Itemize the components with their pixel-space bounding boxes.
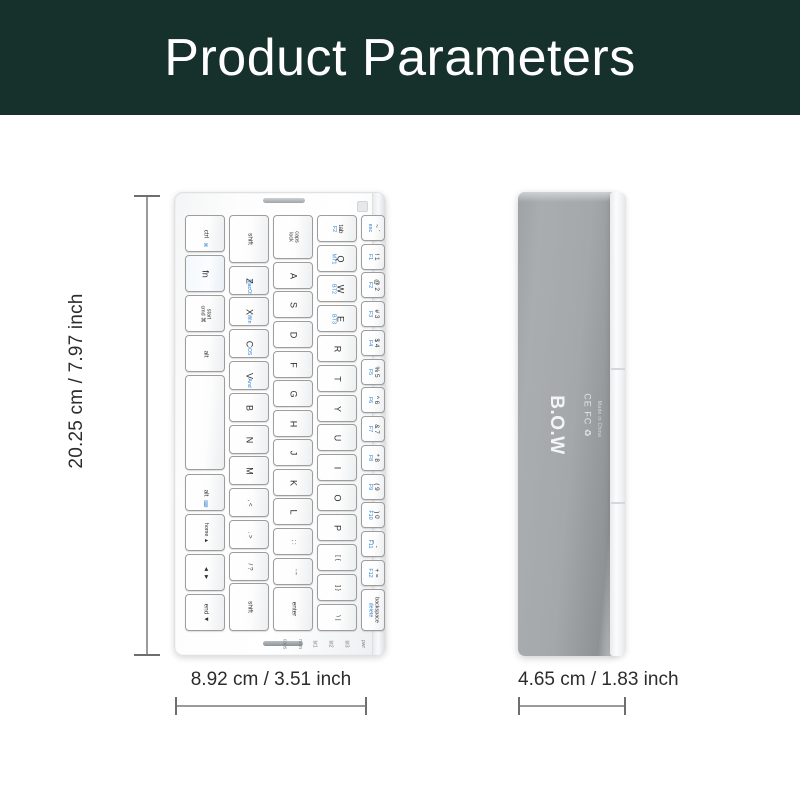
case-top-highlight xyxy=(518,192,614,202)
key-label: % 5F5 xyxy=(367,366,379,377)
key-label: T xyxy=(332,376,341,382)
key-label: S xyxy=(288,301,297,307)
key-fn-label: F2 xyxy=(331,224,337,233)
key-key[interactable]: ; : xyxy=(273,528,313,555)
indicator-bt3: bt3 xyxy=(343,641,349,648)
case-body: B.O.W CE FC ♻ Made in China xyxy=(518,192,614,656)
key-u[interactable]: U xyxy=(317,424,357,451)
keyboard-width-cap-right xyxy=(365,697,367,715)
key-label: end ▼ xyxy=(202,603,209,622)
key-fn-label: F3 xyxy=(367,310,373,319)
key-caps-lock[interactable]: capslock xyxy=(273,215,313,259)
keyboard-row-number-row: ~ `esc! 1F1@ 2F2# 3F3$ 4F4% 5F5^ 6F6& 7F… xyxy=(361,193,385,656)
key-label: ' " xyxy=(290,569,297,574)
page-title: Product Parameters xyxy=(164,28,635,88)
header-banner: Product Parameters xyxy=(0,0,800,115)
case-seam-lower xyxy=(611,502,625,504)
key-fn-label: BT3 xyxy=(329,314,335,324)
indicator-pwr: pwr xyxy=(360,640,366,648)
key-o[interactable]: O xyxy=(317,484,357,511)
key-1[interactable]: ! 1F1 xyxy=(361,244,385,270)
key-label: U xyxy=(332,434,341,441)
key-label: ctrl xyxy=(202,229,209,238)
key-key[interactable]: _ -F11 xyxy=(361,531,385,557)
key-4[interactable]: $ 4F4 xyxy=(361,330,385,356)
key-7[interactable]: & 7F7 xyxy=(361,416,385,442)
key-6[interactable]: ^ 6F6 xyxy=(361,387,385,413)
key-secondary-label: Win xyxy=(246,314,252,323)
key-label: , < xyxy=(246,499,253,506)
key-label: M xyxy=(244,467,253,475)
product-diagram-stage: 20.25 cm / 7.97 inch ctrl⌘fnstartcmd ⌘al… xyxy=(0,115,800,800)
key-shift[interactable]: shift xyxy=(229,583,269,631)
keyboard-row-asdf-row: capslockASDFGHJKL; :' "enter xyxy=(273,193,313,656)
key-key[interactable]: ◄ ► xyxy=(185,554,225,591)
key-shift[interactable]: shift xyxy=(229,215,269,263)
key-key[interactable]: ' " xyxy=(273,558,313,585)
key-label: shift xyxy=(246,601,253,613)
case-width-line xyxy=(518,705,626,707)
keyboard-row-modifier-row: ctrl⌘fnstartcmd ⌘altalt⌨home ▲◄ ►end ▼ xyxy=(185,193,225,656)
key-fn-label: MT1 xyxy=(329,253,335,264)
key-fn-label: F5 xyxy=(367,366,373,377)
key-z[interactable]: ZMacOS xyxy=(229,266,269,295)
key-tab[interactable]: tabF2 xyxy=(317,215,357,242)
case-width-cap-left xyxy=(518,697,520,715)
key-home[interactable]: home ▲ xyxy=(185,514,225,551)
key-3[interactable]: # 3F3 xyxy=(361,301,385,327)
key-v[interactable]: VAnd xyxy=(229,361,269,390)
key-label: ; : xyxy=(290,539,297,544)
height-dimension-cap-bottom xyxy=(134,654,160,656)
key-label: . > xyxy=(246,531,253,538)
key-label: H xyxy=(288,420,297,427)
key-label: startcmd ⌘ xyxy=(199,305,210,322)
key-fn-label: F7 xyxy=(367,424,373,434)
key-label: ( 9F9 xyxy=(367,483,379,490)
key-k[interactable]: K xyxy=(273,469,313,496)
key-key[interactable]: . > xyxy=(229,520,269,549)
case-branding: B.O.W CE FC ♻ Made in China xyxy=(532,370,602,480)
key-label: D xyxy=(288,331,297,338)
key-label: J xyxy=(288,450,297,455)
key-label: O xyxy=(332,494,341,501)
key-label: Y xyxy=(332,405,341,411)
key-p[interactable]: P xyxy=(317,514,357,541)
key-g[interactable]: G xyxy=(273,380,313,407)
key-fn-label: esc xyxy=(367,224,373,232)
key-label: QMT1 xyxy=(329,253,344,264)
key-label: ) 0F10 xyxy=(367,510,379,519)
key-label: R xyxy=(332,345,341,352)
key-backspace[interactable]: backspacedelete xyxy=(361,589,385,631)
key-5[interactable]: % 5F5 xyxy=(361,359,385,385)
key-label: home ▲ xyxy=(202,522,208,542)
key-label: \ | xyxy=(334,615,341,620)
key-space[interactable] xyxy=(185,375,225,470)
key-secondary-label: ⌘ xyxy=(202,243,208,248)
key-i[interactable]: I xyxy=(317,454,357,481)
key-label: backspacedelete xyxy=(367,597,378,623)
indicator-num: num xyxy=(297,639,303,649)
key-label: L xyxy=(288,509,297,514)
key-label: _ -F11 xyxy=(367,540,379,549)
key-label: # 3F3 xyxy=(367,310,379,319)
key-n[interactable]: N xyxy=(229,425,269,454)
key-fn-label: F4 xyxy=(367,339,373,348)
key-fn-label: F9 xyxy=(367,483,373,490)
key-key[interactable]: , < xyxy=(229,488,269,517)
origin-text: Made in China xyxy=(596,386,602,452)
key-h[interactable]: H xyxy=(273,410,313,437)
key-end[interactable]: end ▼ xyxy=(185,594,225,631)
keyboard-width-line xyxy=(175,705,367,707)
key-label: $ 4F4 xyxy=(367,339,379,348)
case-seam-upper xyxy=(611,368,625,370)
key-fn-label: F10 xyxy=(367,510,373,519)
key-label: / ? xyxy=(246,563,253,570)
key-label: enter xyxy=(290,602,297,617)
key-ctrl[interactable]: ctrl⌘ xyxy=(185,215,225,252)
key-b[interactable]: B xyxy=(229,393,269,422)
indicator-bt2: bt2 xyxy=(327,641,333,648)
keyboard-indicator-leds: capsnumbt1bt2bt3pwr xyxy=(279,639,379,651)
key-key[interactable]: ] } xyxy=(317,574,357,601)
key-label: N xyxy=(244,436,253,443)
height-dimension-label: 20.25 cm / 7.97 inch xyxy=(66,241,88,521)
key-fn-label: delete xyxy=(367,597,373,623)
key-2[interactable]: @ 2F2 xyxy=(361,272,385,298)
key-secondary-label: ⌨ xyxy=(202,500,208,508)
key-alt[interactable]: alt xyxy=(185,335,225,372)
key-label: I xyxy=(332,466,341,469)
key-fn-label: F11 xyxy=(367,540,373,549)
key-y[interactable]: Y xyxy=(317,395,357,422)
certification-marks: CE FC ♻ xyxy=(582,379,593,453)
key-label: alt xyxy=(202,350,209,357)
brand-logo: B.O.W xyxy=(545,388,567,462)
key-label: + =F12 xyxy=(367,568,379,577)
height-dimension-cap-top xyxy=(134,195,160,197)
key-fn-label: F12 xyxy=(367,568,373,577)
key-key[interactable]: [ { xyxy=(317,544,357,571)
key-label: ◄ ► xyxy=(202,565,209,579)
key-key[interactable]: + =F12 xyxy=(361,560,385,586)
key-f[interactable]: F xyxy=(273,351,313,378)
key-fn-label: BT2 xyxy=(329,284,335,294)
key-label: @ 2F2 xyxy=(367,279,379,291)
key-label: WBT2 xyxy=(329,284,344,294)
key-label: EBT3 xyxy=(329,314,344,324)
key-label: capslock xyxy=(287,231,298,242)
key-label: & 7F7 xyxy=(367,424,379,434)
key-start-cmd[interactable]: startcmd ⌘ xyxy=(185,295,225,332)
key-label: ^ 6F6 xyxy=(367,396,379,404)
key-fn-label: F8 xyxy=(367,454,373,462)
key-s[interactable]: S xyxy=(273,291,313,318)
key-fn-label: F1 xyxy=(367,253,373,260)
key-fn[interactable]: fn xyxy=(185,255,225,292)
key-0[interactable]: ) 0F10 xyxy=(361,502,385,528)
key-label: G xyxy=(288,390,297,397)
key-label: A xyxy=(288,272,297,278)
key-label: ~ `esc xyxy=(367,224,379,232)
height-dimension-line xyxy=(146,196,148,656)
keyboard-width-cap-left xyxy=(175,697,177,715)
key-8[interactable]: * 8F8 xyxy=(361,445,385,471)
key-c[interactable]: CiOS xyxy=(229,329,269,358)
key-a[interactable]: A xyxy=(273,262,313,289)
case-width-cap-right xyxy=(624,697,626,715)
key-label: tabF2 xyxy=(331,224,343,233)
key-m[interactable]: M xyxy=(229,456,269,485)
key-key[interactable]: / ? xyxy=(229,552,269,581)
key-e[interactable]: EBT3 xyxy=(317,305,357,332)
keyboard-width-label: 8.92 cm / 3.51 inch xyxy=(175,669,367,691)
key-9[interactable]: ( 9F9 xyxy=(361,474,385,500)
keyboard-row-qwerty-row: tabF2QMT1WBT2EBT3RTYUIOP[ {] }\ | xyxy=(317,193,357,656)
keyboard-row-zxcv-row: shiftZMacOSXWinCiOSVAndBNM, <. >/ ?shift xyxy=(229,193,269,656)
key-secondary-label: MacOS xyxy=(246,279,252,295)
case-width-label: 4.65 cm / 1.83 inch xyxy=(518,669,626,691)
key-key[interactable]: \ | xyxy=(317,604,357,631)
key-t[interactable]: T xyxy=(317,365,357,392)
key-r[interactable]: R xyxy=(317,335,357,362)
key-j[interactable]: J xyxy=(273,439,313,466)
key-label: P xyxy=(332,524,341,530)
case-edge-panel xyxy=(610,192,626,656)
key-secondary-label: And xyxy=(246,378,252,387)
key-d[interactable]: D xyxy=(273,321,313,348)
indicator-caps: caps xyxy=(281,639,287,650)
key-label: F xyxy=(288,362,297,368)
key-key[interactable]: ~ `esc xyxy=(361,215,385,241)
key-enter[interactable]: enter xyxy=(273,587,313,631)
key-fn-label: F2 xyxy=(367,279,373,291)
key-q[interactable]: QMT1 xyxy=(317,245,357,272)
key-label: ! 1F1 xyxy=(367,253,379,260)
key-label: [ { xyxy=(334,555,341,561)
key-fn-label: F6 xyxy=(367,396,373,404)
key-alt[interactable]: alt⌨ xyxy=(185,474,225,511)
key-label: B xyxy=(244,404,253,410)
indicator-bt1: bt1 xyxy=(311,641,317,648)
key-label: alt xyxy=(202,489,209,496)
key-label: ] } xyxy=(334,585,341,591)
key-label: K xyxy=(288,479,297,485)
keyboard-device: ctrl⌘fnstartcmd ⌘altalt⌨home ▲◄ ►end ▼sh… xyxy=(174,192,386,656)
key-label: * 8F8 xyxy=(367,454,379,462)
folded-case-device: B.O.W CE FC ♻ Made in China xyxy=(518,192,626,656)
key-x[interactable]: XWin xyxy=(229,297,269,326)
key-label: shift xyxy=(246,233,253,245)
key-l[interactable]: L xyxy=(273,498,313,525)
key-label: fn xyxy=(200,270,209,278)
key-w[interactable]: WBT2 xyxy=(317,275,357,302)
key-secondary-label: iOS xyxy=(246,346,252,355)
